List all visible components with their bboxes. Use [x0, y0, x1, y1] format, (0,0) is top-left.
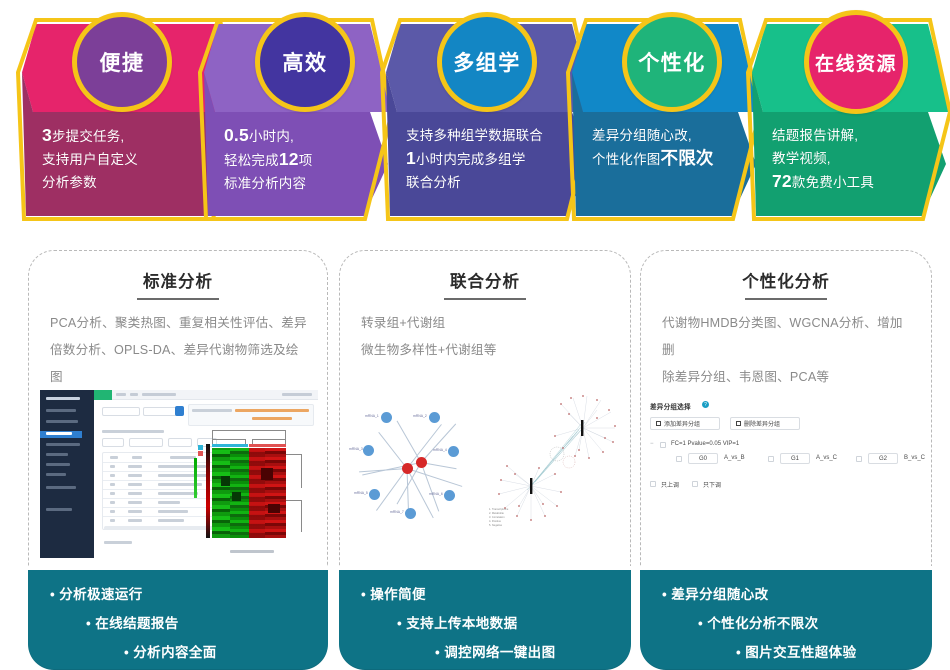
heatmap-figure [188, 430, 316, 556]
card-footer: 差异分组随心改 个性化分析不限次 图片交互性超体验 [640, 570, 932, 670]
up-only-label: 只上调 [661, 480, 679, 489]
regulatory-network-large: 1. Transcriptome 2. Metabolite 3. Correl… [485, 392, 623, 534]
thumbnail-network-graphs[interactable]: mRNA_1 mRNA_2 mRNA_3 mRNA_4 mRNA_5 mRNA_… [347, 388, 623, 556]
banner-circle-3[interactable]: 多组学 [437, 12, 537, 112]
group-name: A_vs_B [724, 455, 745, 461]
network-svg: 1. Transcriptome 2. Metabolite 3. Correl… [485, 392, 623, 534]
title-underline [137, 298, 219, 300]
dashboard-topbar [94, 390, 318, 400]
banner-circle-4[interactable]: 个性化 [622, 12, 722, 112]
card-description: 转录组+代谢组 微生物多样性+代谢组等 [361, 310, 613, 364]
card-personalized-analysis[interactable]: 个性化分析 代谢物HMDB分类图、WGCNA分析、增加删 除差异分组、韦恩图、P… [640, 238, 932, 670]
filter-field[interactable] [102, 407, 140, 416]
banner-circle-label: 高效 [283, 47, 328, 77]
desc-line: PCA分析、聚类热图、重复相关性评估、差异 [50, 310, 310, 337]
chevron-text-line: 72款免费小工具 [772, 170, 874, 194]
toolbar-select[interactable] [129, 438, 163, 447]
chevron-text-line: 联合分析 [406, 171, 543, 194]
chevron-text-line: 轻松完成12项 [224, 148, 312, 172]
group-name: A_vs_C [816, 455, 837, 461]
banner-circle-label: 多组学 [453, 47, 521, 77]
svg-text:1. Transcriptome: 1. Transcriptome [489, 507, 509, 511]
add-group-button[interactable]: 添加差异分组 [650, 417, 720, 430]
chevron-text-line: 1小时内完成多组学 [406, 147, 543, 171]
footer-item: 支持上传本地数据 [397, 612, 517, 632]
chevron-text-line: 差异分组随心改, [592, 124, 714, 147]
threshold-checkbox[interactable] [660, 442, 666, 448]
down-only-checkbox[interactable] [692, 481, 698, 487]
search-button[interactable] [175, 406, 184, 416]
footer-item: 分析极速运行 [50, 583, 143, 603]
leaf-node [429, 412, 440, 423]
title-underline [745, 298, 827, 300]
threshold-label: FC=1 Pvalue=0.05 VIP=1 [671, 441, 739, 447]
chevron-text: 0.5小时内,轻松完成12项标准分析内容 [224, 124, 312, 195]
chevron-text-line: 结题报告讲解, [772, 124, 874, 147]
hub-node [416, 457, 427, 468]
leaf-node [363, 445, 374, 456]
card-joint-analysis[interactable]: 联合分析 转录组+代谢组 微生物多样性+代谢组等 [339, 238, 631, 670]
add-group-label: 添加差异分组 [664, 419, 700, 428]
chevron-text-line: 3步提交任务, [42, 124, 138, 148]
delete-group-label: 删除差异分组 [744, 419, 780, 428]
banner-circle-label: 个性化 [638, 47, 706, 77]
delete-group-button[interactable]: 删除差异分组 [730, 417, 800, 430]
help-icon[interactable]: ? [702, 401, 709, 408]
chevron-text: 差异分组随心改,个性化作图不限次 [592, 124, 714, 171]
chevron-text-line: 0.5小时内, [224, 124, 312, 148]
footer-item: 操作简便 [361, 583, 426, 603]
regulatory-network-small: mRNA_1 mRNA_2 mRNA_3 mRNA_4 mRNA_5 mRNA_… [347, 396, 487, 546]
footer-item: 图片交互性超体验 [736, 641, 856, 661]
desc-line: 倍数分析、OPLS-DA、差异代谢物筛选及绘图 [50, 337, 310, 391]
leaf-node [405, 508, 416, 519]
chevron-text: 3步提交任务,支持用户自定义分析参数 [42, 124, 138, 194]
banner-circle-1[interactable]: 便捷 [72, 12, 172, 112]
group-code[interactable]: G2 [868, 453, 898, 464]
desc-line: 除差异分组、韦恩图、PCA等 [662, 364, 914, 391]
feature-banner: 3步提交任务,支持用户自定义分析参数便捷0.5小时内,轻松完成12项标准分析内容… [0, 0, 950, 230]
chevron-text-line: 教学视频, [772, 147, 874, 170]
dashboard-sidebar [40, 390, 94, 558]
leaf-node [381, 412, 392, 423]
group-panel-title: 差异分组选择 [650, 401, 691, 411]
svg-text:4. Positive: 4. Positive [489, 519, 502, 523]
group-code[interactable]: G0 [688, 453, 718, 464]
card-footer: 分析极速运行 在线结题报告 分析内容全面 [28, 570, 328, 670]
banner-circle-2[interactable]: 高效 [255, 12, 355, 112]
toolbar-button[interactable] [102, 438, 124, 447]
down-only-label: 只下调 [703, 480, 721, 489]
group-checkbox[interactable] [676, 456, 682, 462]
card-title: 个性化分析 [640, 268, 932, 292]
footer-item: 个性化分析不限次 [698, 612, 818, 632]
notice-banner [188, 404, 314, 426]
footer-item: 在线结题报告 [86, 612, 179, 632]
footer-item: 差异分组随心改 [662, 583, 769, 603]
desc-line: 代谢物HMDB分类图、WGCNA分析、增加删 [662, 310, 914, 364]
card-footer: 操作简便 支持上传本地数据 调控网络一键出图 [339, 570, 631, 670]
group-checkbox[interactable] [768, 456, 774, 462]
infographic-root: 3步提交任务,支持用户自定义分析参数便捷0.5小时内,轻松完成12项标准分析内容… [0, 0, 950, 670]
card-description: 代谢物HMDB分类图、WGCNA分析、增加删 除差异分组、韦恩图、PCA等 [662, 310, 914, 391]
group-checkbox[interactable] [856, 456, 862, 462]
card-title: 标准分析 [28, 268, 328, 292]
svg-text:5. Negative: 5. Negative [489, 523, 503, 527]
leaf-node [444, 490, 455, 501]
chevron-text-line: 分析参数 [42, 171, 138, 194]
card-title: 联合分析 [339, 268, 631, 292]
desc-line: 转录组+代谢组 [361, 310, 613, 337]
chevron-text: 结题报告讲解,教学视频,72款免费小工具 [772, 124, 874, 194]
banner-circle-5[interactable]: 在线资源 [804, 10, 908, 114]
banner-circle-label: 在线资源 [815, 49, 897, 76]
thumbnail-group-panel[interactable]: 差异分组选择 ? 添加差异分组 删除差异分组 − FC=1 Pvalue=0.0… [646, 393, 926, 513]
tree-toggle-icon[interactable]: − [650, 441, 654, 447]
leaf-node [369, 489, 380, 500]
group-name: B_vs_C [904, 455, 925, 461]
thumbnail-dashboard-heatmap[interactable] [40, 390, 318, 558]
chevron-text-line: 标准分析内容 [224, 172, 312, 195]
svg-text:3. Correlation: 3. Correlation [489, 515, 505, 519]
footer-item: 调控网络一键出图 [435, 641, 555, 661]
group-code[interactable]: G1 [780, 453, 810, 464]
dashboard-logo [94, 390, 112, 400]
plus-icon [656, 421, 661, 426]
banner-circle-label: 便捷 [100, 47, 145, 77]
chevron-text-line: 个性化作图不限次 [592, 147, 714, 171]
svg-text:2. Metabolite: 2. Metabolite [489, 511, 504, 515]
minus-icon [736, 421, 741, 426]
chevron-text-line: 支持多种组学数据联合 [406, 124, 543, 147]
chevron-text-line: 支持用户自定义 [42, 148, 138, 171]
desc-line: 微生物多样性+代谢组等 [361, 337, 613, 364]
footer-item: 分析内容全面 [124, 641, 217, 661]
leaf-node [448, 446, 459, 457]
analysis-cards: 标准分析 PCA分析、聚类热图、重复相关性评估、差异 倍数分析、OPLS-DA、… [0, 238, 950, 670]
card-standard-analysis[interactable]: 标准分析 PCA分析、聚类热图、重复相关性评估、差异 倍数分析、OPLS-DA、… [28, 238, 328, 670]
hub-node [402, 463, 413, 474]
up-only-checkbox[interactable] [650, 481, 656, 487]
chevron-text: 支持多种组学数据联合1小时内完成多组学联合分析 [406, 124, 543, 194]
title-underline [444, 298, 526, 300]
